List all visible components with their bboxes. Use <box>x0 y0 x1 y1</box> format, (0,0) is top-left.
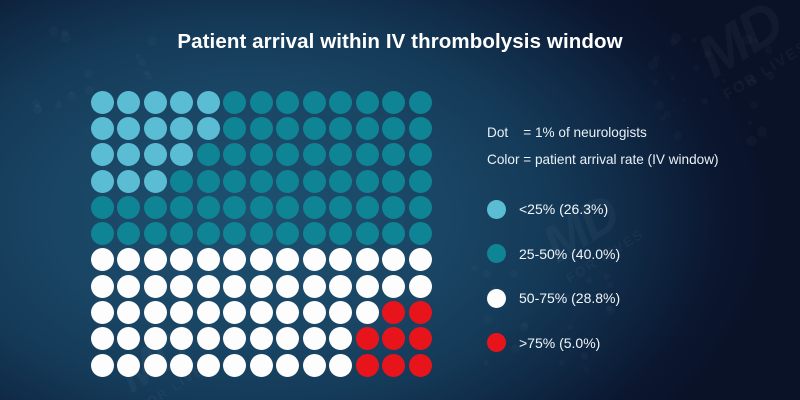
waffle-dot-white <box>91 354 114 377</box>
waffle-cell <box>248 247 275 273</box>
waffle-dot-teal <box>170 222 193 245</box>
watermark-dot <box>57 100 61 104</box>
waffle-dot-light <box>144 143 167 166</box>
waffle-dot-teal <box>329 222 352 245</box>
waffle-cell <box>328 247 355 273</box>
watermark-dot <box>655 101 664 110</box>
waffle-dot-teal <box>356 222 379 245</box>
watermark-dot <box>750 101 758 109</box>
waffle-dot-teal <box>356 117 379 140</box>
waffle-dot-teal <box>197 222 220 245</box>
waffle-dot-white <box>382 275 405 298</box>
waffle-dot-white <box>117 275 140 298</box>
waffle-cell <box>116 220 143 246</box>
legend-label: 25-50% (40.0%) <box>519 246 620 262</box>
waffle-cell <box>89 194 116 220</box>
legend-note-color: Color = patient arrival rate (IV window) <box>487 153 787 167</box>
waffle-cell <box>301 299 328 325</box>
waffle-cell <box>407 299 434 325</box>
waffle-dot-teal <box>117 222 140 245</box>
waffle-dot-white <box>144 275 167 298</box>
watermark-dot <box>135 54 141 60</box>
waffle-dot-teal <box>409 91 432 114</box>
waffle-dot-white <box>329 327 352 350</box>
waffle-dot-light <box>170 143 193 166</box>
waffle-cell <box>275 142 302 168</box>
waffle-dot-teal <box>382 170 405 193</box>
waffle-dot-teal <box>170 170 193 193</box>
waffle-dot-white <box>276 327 299 350</box>
legend-item-list: <25% (26.3%)25-50% (40.0%)50-75% (28.8%)… <box>487 197 787 356</box>
waffle-dot-white <box>117 327 140 350</box>
waffle-dot-teal <box>250 91 273 114</box>
waffle-cell <box>248 220 275 246</box>
waffle-dot-white <box>144 248 167 271</box>
waffle-cell <box>89 220 116 246</box>
waffle-dot-white <box>276 248 299 271</box>
waffle-cell <box>354 115 381 141</box>
waffle-dot-white <box>117 248 140 271</box>
waffle-cell <box>301 89 328 115</box>
waffle-cell <box>195 352 222 378</box>
waffle-dot-white <box>223 327 246 350</box>
waffle-cell <box>116 168 143 194</box>
waffle-dot-white <box>303 354 326 377</box>
waffle-cell <box>407 247 434 273</box>
waffle-dot-red <box>382 301 405 324</box>
waffle-dot-teal <box>223 222 246 245</box>
waffle-cell <box>275 115 302 141</box>
waffle-cell <box>248 194 275 220</box>
waffle-dot-teal <box>409 196 432 219</box>
legend-item: <25% (26.3%) <box>487 197 787 222</box>
waffle-cell <box>116 273 143 299</box>
waffle-cell <box>301 273 328 299</box>
watermark-dot <box>55 102 62 109</box>
waffle-cell <box>328 273 355 299</box>
waffle-cell <box>407 142 434 168</box>
waffle-cell <box>222 352 249 378</box>
waffle-dot-white <box>91 275 114 298</box>
waffle-dot-teal <box>197 170 220 193</box>
waffle-dot-teal <box>250 196 273 219</box>
waffle-dot-teal <box>223 170 246 193</box>
waffle-dot-teal <box>117 196 140 219</box>
waffle-dot-teal <box>223 196 246 219</box>
waffle-dot-white <box>144 354 167 377</box>
waffle-cell <box>142 220 169 246</box>
watermark-dot <box>70 91 74 95</box>
waffle-cell <box>195 326 222 352</box>
waffle-dot-white <box>223 275 246 298</box>
waffle-cell <box>248 273 275 299</box>
waffle-cell <box>169 273 196 299</box>
waffle-cell <box>169 194 196 220</box>
waffle-cell <box>142 194 169 220</box>
waffle-dot-white <box>170 275 193 298</box>
waffle-dot-light <box>117 170 140 193</box>
waffle-dot-white <box>197 248 220 271</box>
waffle-dot-white <box>356 248 379 271</box>
waffle-dot-teal <box>382 196 405 219</box>
watermark-dot <box>671 75 676 80</box>
watermark-dot <box>145 70 150 75</box>
waffle-cell <box>222 299 249 325</box>
waffle-cell <box>275 352 302 378</box>
waffle-dot-light <box>170 117 193 140</box>
waffle-cell <box>407 194 434 220</box>
waffle-cell <box>248 299 275 325</box>
waffle-dot-teal <box>303 143 326 166</box>
waffle-dot-light <box>117 91 140 114</box>
watermark-dot <box>747 76 757 86</box>
waffle-cell <box>301 352 328 378</box>
waffle-cell <box>354 273 381 299</box>
waffle-cell <box>275 89 302 115</box>
waffle-cell <box>248 352 275 378</box>
waffle-cell <box>116 326 143 352</box>
waffle-cell <box>381 247 408 273</box>
waffle-cell <box>381 194 408 220</box>
waffle-cell <box>195 220 222 246</box>
watermark-dot <box>748 121 752 125</box>
waffle-cell <box>407 273 434 299</box>
watermark-dot <box>471 265 477 271</box>
waffle-cell <box>354 247 381 273</box>
waffle-dot-light <box>144 91 167 114</box>
waffle-cell <box>328 326 355 352</box>
waffle-cell <box>116 115 143 141</box>
waffle-cell <box>381 142 408 168</box>
waffle-cell <box>89 247 116 273</box>
waffle-dot-teal <box>276 222 299 245</box>
waffle-cell <box>381 273 408 299</box>
waffle-dot-white <box>382 248 405 271</box>
waffle-dot-white <box>223 248 246 271</box>
waffle-cell <box>116 352 143 378</box>
legend-label: <25% (26.3%) <box>519 201 608 217</box>
waffle-dot-white <box>144 301 167 324</box>
waffle-cell <box>381 168 408 194</box>
waffle-cell <box>354 299 381 325</box>
waffle-dot-red <box>382 327 405 350</box>
waffle-dot-teal <box>276 143 299 166</box>
waffle-cell <box>89 299 116 325</box>
watermark-dot <box>653 80 658 85</box>
waffle-cell <box>169 89 196 115</box>
watermark-dot <box>84 69 93 78</box>
waffle-dot-teal <box>329 196 352 219</box>
waffle-cell <box>142 299 169 325</box>
waffle-dot-teal <box>329 143 352 166</box>
waffle-dot-white <box>197 354 220 377</box>
waffle-dot-teal <box>276 91 299 114</box>
waffle-dot-white <box>409 248 432 271</box>
waffle-dot-teal <box>197 143 220 166</box>
waffle-dot-white <box>303 248 326 271</box>
waffle-dot-teal <box>276 117 299 140</box>
waffle-cell <box>89 142 116 168</box>
waffle-cell <box>169 115 196 141</box>
waffle-dot-white <box>329 248 352 271</box>
waffle-dot-teal <box>276 196 299 219</box>
waffle-cell <box>328 220 355 246</box>
waffle-cell <box>89 115 116 141</box>
waffle-cell <box>301 247 328 273</box>
waffle-dot-teal <box>144 222 167 245</box>
waffle-cell <box>89 352 116 378</box>
waffle-dot-teal <box>329 91 352 114</box>
legend-swatch-red <box>487 333 506 352</box>
waffle-cell <box>407 326 434 352</box>
waffle-cell <box>275 299 302 325</box>
waffle-cell <box>407 352 434 378</box>
waffle-dot-teal <box>197 196 220 219</box>
waffle-dot-teal <box>409 143 432 166</box>
waffle-cell <box>169 326 196 352</box>
waffle-cell <box>116 247 143 273</box>
waffle-cell <box>222 326 249 352</box>
waffle-dot-red <box>409 327 432 350</box>
waffle-cell <box>301 220 328 246</box>
waffle-dot-white <box>91 327 114 350</box>
waffle-dot-teal <box>91 222 114 245</box>
waffle-dot-white <box>356 301 379 324</box>
waffle-cell <box>275 220 302 246</box>
watermark-dot <box>138 59 145 66</box>
waffle-cell <box>301 326 328 352</box>
waffle-cell <box>169 142 196 168</box>
waffle-dot-red <box>409 301 432 324</box>
watermark-dot <box>146 73 153 80</box>
waffle-dot-white <box>276 301 299 324</box>
waffle-cell <box>301 115 328 141</box>
waffle-cell <box>89 273 116 299</box>
waffle-cell <box>407 168 434 194</box>
watermark-dot <box>33 105 41 113</box>
waffle-cell <box>116 89 143 115</box>
waffle-cell <box>248 89 275 115</box>
waffle-cell <box>354 194 381 220</box>
waffle-dot-white <box>303 327 326 350</box>
waffle-dot-white <box>329 275 352 298</box>
watermark-dot <box>36 104 40 108</box>
waffle-dot-teal <box>276 170 299 193</box>
legend-swatch-teal <box>487 244 506 263</box>
waffle-cell <box>381 299 408 325</box>
waffle-dot-teal <box>382 143 405 166</box>
waffle-cell <box>301 194 328 220</box>
waffle-dot-white <box>197 301 220 324</box>
waffle-cell <box>116 299 143 325</box>
waffle-dot-white <box>329 354 352 377</box>
legend-item: 25-50% (40.0%) <box>487 241 787 266</box>
waffle-dot-white <box>250 301 273 324</box>
waffle-dot-white <box>117 301 140 324</box>
waffle-dot-white <box>250 275 273 298</box>
waffle-cell <box>381 115 408 141</box>
waffle-cell <box>381 352 408 378</box>
waffle-cell <box>328 194 355 220</box>
waffle-cell <box>142 273 169 299</box>
waffle-cell <box>354 168 381 194</box>
waffle-cell <box>275 273 302 299</box>
waffle-dot-teal <box>409 170 432 193</box>
waffle-cell <box>354 220 381 246</box>
waffle-dot-teal <box>223 143 246 166</box>
legend-label: >75% (5.0%) <box>519 335 600 351</box>
waffle-dot-white <box>91 301 114 324</box>
watermark-dot <box>67 92 76 101</box>
infographic-canvas: MD FOR LIVES MD FOR LIVES MD FOR LIVES P… <box>0 0 800 400</box>
waffle-cell <box>142 115 169 141</box>
watermark-dot <box>653 55 660 62</box>
waffle-dot-teal <box>303 170 326 193</box>
watermark-dot <box>693 65 699 71</box>
waffle-cell <box>142 352 169 378</box>
waffle-dot-red <box>382 354 405 377</box>
waffle-dot-teal <box>356 170 379 193</box>
waffle-cell <box>195 299 222 325</box>
waffle-cell <box>142 247 169 273</box>
legend-swatch-light <box>487 200 506 219</box>
waffle-cell <box>222 194 249 220</box>
waffle-cell <box>248 115 275 141</box>
waffle-dot-white <box>303 301 326 324</box>
waffle-dot-teal <box>382 222 405 245</box>
waffle-cell <box>354 352 381 378</box>
waffle-dot-light <box>170 91 193 114</box>
waffle-dot-white <box>223 354 246 377</box>
waffle-cell <box>169 352 196 378</box>
waffle-cell <box>407 220 434 246</box>
waffle-cell <box>195 89 222 115</box>
waffle-dot-teal <box>144 196 167 219</box>
waffle-cell <box>169 168 196 194</box>
legend-label: 50-75% (28.8%) <box>519 290 620 306</box>
watermark-dot <box>143 71 148 76</box>
waffle-cell <box>275 168 302 194</box>
waffle-cell <box>328 89 355 115</box>
waffle-dot-teal <box>303 117 326 140</box>
waffle-cell <box>89 89 116 115</box>
waffle-dot-teal <box>250 170 273 193</box>
waffle-dot-red <box>356 354 379 377</box>
waffle-cell <box>195 115 222 141</box>
waffle-cell <box>222 220 249 246</box>
legend: Dot = 1% of neurologists Color = patient… <box>487 126 787 375</box>
legend-item: >75% (5.0%) <box>487 330 787 355</box>
waffle-cell <box>195 142 222 168</box>
waffle-dot-white <box>170 248 193 271</box>
watermark-dot <box>701 98 708 105</box>
waffle-cell <box>169 220 196 246</box>
waffle-cell <box>142 326 169 352</box>
waffle-dot-white <box>409 275 432 298</box>
waffle-dot-teal <box>329 170 352 193</box>
waffle-dot-light <box>117 117 140 140</box>
waffle-cell <box>407 89 434 115</box>
waffle-dot-white <box>197 275 220 298</box>
waffle-cell <box>328 115 355 141</box>
waffle-cell <box>328 352 355 378</box>
waffle-dot-teal <box>382 117 405 140</box>
legend-swatch-white <box>487 289 506 308</box>
waffle-dot-white <box>197 327 220 350</box>
waffle-cell <box>222 247 249 273</box>
watermark-dot <box>660 115 666 121</box>
waffle-dot-white <box>117 354 140 377</box>
waffle-cell <box>116 142 143 168</box>
waffle-dot-teal <box>250 222 273 245</box>
waffle-cell <box>89 326 116 352</box>
waffle-dot-teal <box>382 91 405 114</box>
waffle-cell <box>89 168 116 194</box>
waffle-dot-white <box>170 301 193 324</box>
watermark-dot <box>648 60 658 70</box>
waffle-chart-grid <box>89 89 434 378</box>
waffle-dot-light <box>144 117 167 140</box>
waffle-dot-teal <box>329 117 352 140</box>
waffle-dot-white <box>170 327 193 350</box>
waffle-cell <box>222 89 249 115</box>
chart-title: Patient arrival within IV thrombolysis w… <box>0 30 800 54</box>
watermark-dot <box>682 99 685 102</box>
legend-note-unit: Dot = 1% of neurologists <box>487 126 787 140</box>
waffle-cell <box>328 168 355 194</box>
waffle-dot-light <box>91 143 114 166</box>
waffle-cell <box>222 273 249 299</box>
waffle-cell <box>328 142 355 168</box>
waffle-dot-light <box>197 117 220 140</box>
waffle-dot-white <box>91 248 114 271</box>
waffle-cell <box>381 89 408 115</box>
legend-item: 50-75% (28.8%) <box>487 286 787 311</box>
waffle-cell <box>142 142 169 168</box>
waffle-dot-light <box>91 117 114 140</box>
waffle-dot-light <box>197 91 220 114</box>
waffle-dot-red <box>356 327 379 350</box>
waffle-dot-teal <box>223 91 246 114</box>
waffle-dot-teal <box>170 196 193 219</box>
waffle-dot-teal <box>356 196 379 219</box>
waffle-cell <box>381 220 408 246</box>
waffle-dot-white <box>250 354 273 377</box>
waffle-dot-teal <box>223 117 246 140</box>
waffle-cell <box>354 142 381 168</box>
waffle-dot-white <box>223 301 246 324</box>
waffle-cell <box>275 194 302 220</box>
waffle-dot-light <box>117 143 140 166</box>
waffle-dot-teal <box>250 143 273 166</box>
waffle-dot-teal <box>303 91 326 114</box>
waffle-dot-teal <box>356 143 379 166</box>
waffle-cell <box>195 273 222 299</box>
waffle-cell <box>328 299 355 325</box>
waffle-dot-white <box>170 354 193 377</box>
waffle-dot-red <box>409 354 432 377</box>
watermark-dot <box>722 79 726 83</box>
waffle-dot-white <box>144 327 167 350</box>
watermark-dot <box>767 72 775 80</box>
waffle-dot-teal <box>303 222 326 245</box>
waffle-dot-light <box>144 170 167 193</box>
waffle-dot-teal <box>91 196 114 219</box>
waffle-cell <box>381 326 408 352</box>
waffle-cell <box>354 89 381 115</box>
waffle-cell <box>195 168 222 194</box>
waffle-cell <box>222 142 249 168</box>
